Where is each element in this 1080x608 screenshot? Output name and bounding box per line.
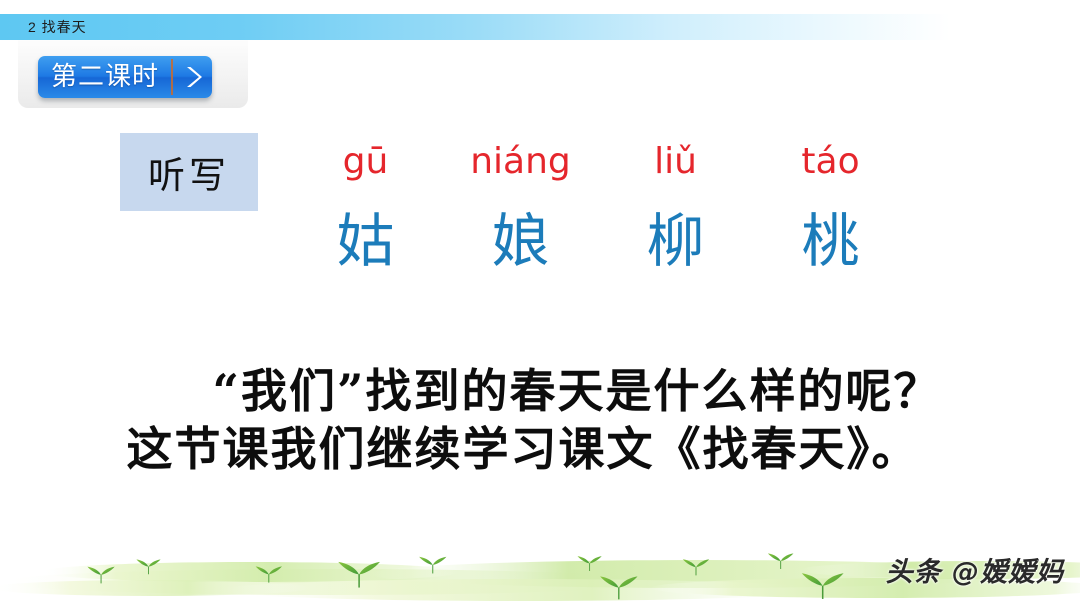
sentence-line-1: “我们”找到的春天是什么样的呢？ [0, 362, 1080, 420]
word-hanzi: 娘 [443, 210, 598, 272]
lesson-period-button[interactable]: 第二课时 [38, 56, 212, 98]
dictation-badge: 听写 [120, 133, 258, 211]
word-hanzi: 柳 [598, 210, 753, 272]
lesson-period-label: 第二课时 [51, 56, 159, 98]
lesson-title: 2 找春天 [28, 14, 87, 40]
word-item: liǔ 柳 [598, 136, 753, 272]
word-pinyin: niáng [443, 136, 598, 188]
word-pinyin: liǔ [598, 136, 753, 188]
lesson-intro-text: “我们”找到的春天是什么样的呢？ 这节课我们继续学习课文《找春天》。 [0, 362, 1080, 478]
header-bar: 2 找春天 [0, 14, 1080, 40]
word-item: niáng 娘 [443, 136, 598, 272]
dictation-label: 听写 [148, 145, 230, 199]
word-pinyin: gū [288, 136, 443, 188]
button-divider [171, 59, 173, 95]
word-hanzi: 姑 [288, 210, 443, 272]
chevron-right-icon[interactable] [183, 64, 203, 90]
sentence-line-2: 这节课我们继续学习课文《找春天》。 [0, 420, 1080, 478]
word-pinyin: táo [753, 136, 908, 188]
word-hanzi: 桃 [753, 210, 908, 272]
vocabulary-word-list: gū 姑 niáng 娘 liǔ 柳 táo 桃 [288, 136, 908, 272]
watermark: 头条 @嫒嫒妈 [886, 558, 1064, 588]
word-item: gū 姑 [288, 136, 443, 272]
word-item: táo 桃 [753, 136, 908, 272]
